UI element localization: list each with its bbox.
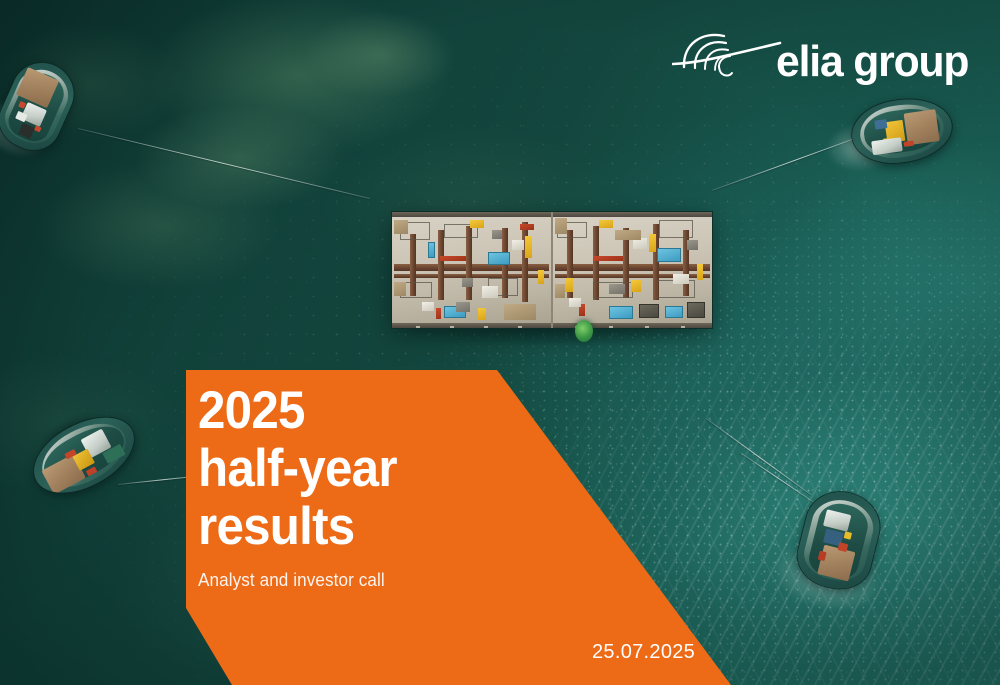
tugboat-gear-blue xyxy=(874,119,887,129)
barge-tan-unit xyxy=(555,284,565,298)
barge-red-gear xyxy=(593,256,623,261)
barge-frame xyxy=(659,220,693,238)
headline-line-2: half-year xyxy=(198,440,598,498)
barge-piling xyxy=(645,326,649,328)
barge-grey-unit xyxy=(456,302,470,312)
barge-yellow-block xyxy=(565,278,573,292)
barge-red-gear xyxy=(520,224,534,230)
barge-white-unit xyxy=(673,274,689,284)
barge-piling xyxy=(484,326,488,328)
barge-cyan-tank xyxy=(488,252,510,265)
subtitle: Analyst and investor call xyxy=(198,570,607,591)
barge-yellow-block xyxy=(478,308,486,320)
barge-pipe xyxy=(438,230,444,300)
headline-line-3: results xyxy=(198,498,598,556)
barge-pipe xyxy=(522,222,528,302)
barge-edge xyxy=(392,212,551,217)
barge-grey-unit xyxy=(687,240,698,250)
barge-module-left xyxy=(392,212,551,328)
barge-yellow-block xyxy=(470,220,484,228)
barge-tan-unit xyxy=(555,218,567,234)
elia-swoosh-icon xyxy=(672,26,784,84)
barge-edge xyxy=(553,212,712,217)
barge-tan-unit xyxy=(504,304,536,320)
barge-yellow-block xyxy=(631,280,641,292)
barge-dark-tank xyxy=(639,304,659,318)
date-stamp: 25.07.2025 xyxy=(592,641,695,664)
barge-red-gear xyxy=(436,308,441,319)
barge-module-right xyxy=(551,212,712,328)
barge-piling xyxy=(681,326,685,328)
industrial-barge xyxy=(392,212,712,328)
barge-white-unit xyxy=(569,298,581,307)
barge-yellow-block xyxy=(538,270,544,284)
barge-cyan-tank xyxy=(609,306,633,319)
barge-yellow-block xyxy=(697,264,703,280)
barge-white-unit xyxy=(482,286,498,298)
barge-cyan-tank xyxy=(657,248,681,262)
tugboat-deck-pad xyxy=(904,109,940,145)
barge-white-unit xyxy=(512,240,524,250)
barge-yellow-block xyxy=(649,234,656,252)
barge-tan-unit xyxy=(615,230,641,240)
barge-white-unit xyxy=(422,302,434,311)
barge-piling xyxy=(609,326,613,328)
barge-yellow-block xyxy=(525,236,532,258)
elia-group-logo[interactable]: elia group xyxy=(672,22,974,84)
barge-red-gear xyxy=(440,256,466,261)
barge-dark-tank xyxy=(687,302,705,318)
barge-cyan-tank xyxy=(665,306,683,318)
barge-piling xyxy=(416,326,420,328)
marker-buoy xyxy=(575,320,593,342)
elia-group-wordmark: elia group xyxy=(776,40,968,84)
barge-cyan-tank xyxy=(428,242,435,258)
barge-tan-unit xyxy=(394,282,406,296)
barge-piling xyxy=(518,326,522,328)
barge-piling xyxy=(450,326,454,328)
presentation-title-slide: 2025 half-year results Analyst and inves… xyxy=(0,0,1000,685)
barge-tan-unit xyxy=(394,220,408,234)
barge-grey-unit xyxy=(462,278,473,287)
barge-grey-unit xyxy=(492,230,502,239)
barge-grey-unit xyxy=(609,284,625,294)
barge-yellow-block xyxy=(599,220,613,228)
